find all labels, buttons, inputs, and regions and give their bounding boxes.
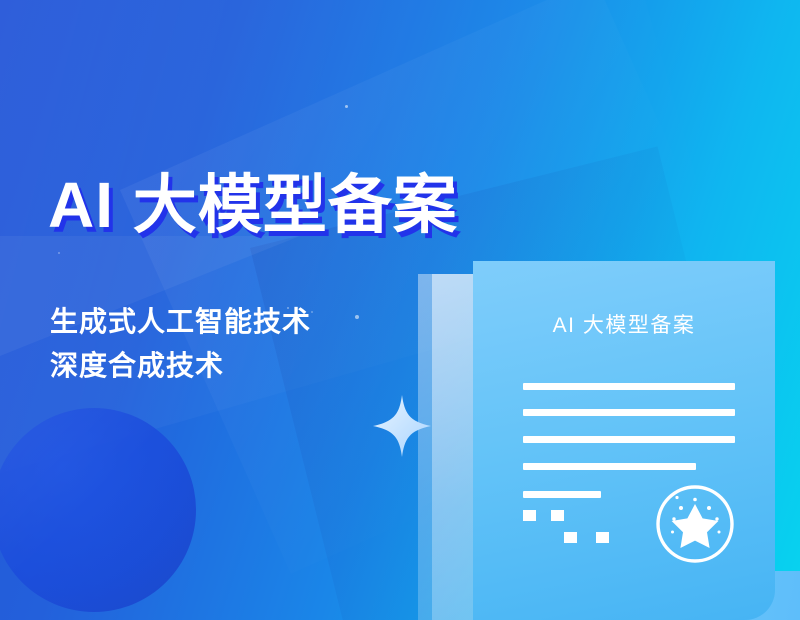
star-seal-icon	[654, 483, 736, 565]
document-text-line	[523, 463, 696, 470]
document-text-block	[564, 532, 577, 543]
four-point-sparkle-icon	[373, 395, 431, 457]
document-text-line	[523, 383, 735, 390]
document-card-front: AI 大模型备案	[473, 261, 775, 620]
document-text-line	[523, 409, 735, 416]
document-text-block	[551, 510, 564, 521]
document-card-stack: AI 大模型备案	[0, 0, 800, 620]
document-text-line	[523, 436, 735, 443]
document-text-block	[523, 510, 536, 521]
ai-model-filing-banner: AI 大模型备案 生成式人工智能技术 深度合成技术 AI 大模型备案	[0, 0, 800, 620]
document-text-block	[596, 532, 609, 543]
document-card-title: AI 大模型备案	[473, 309, 775, 339]
document-text-line	[523, 491, 601, 498]
